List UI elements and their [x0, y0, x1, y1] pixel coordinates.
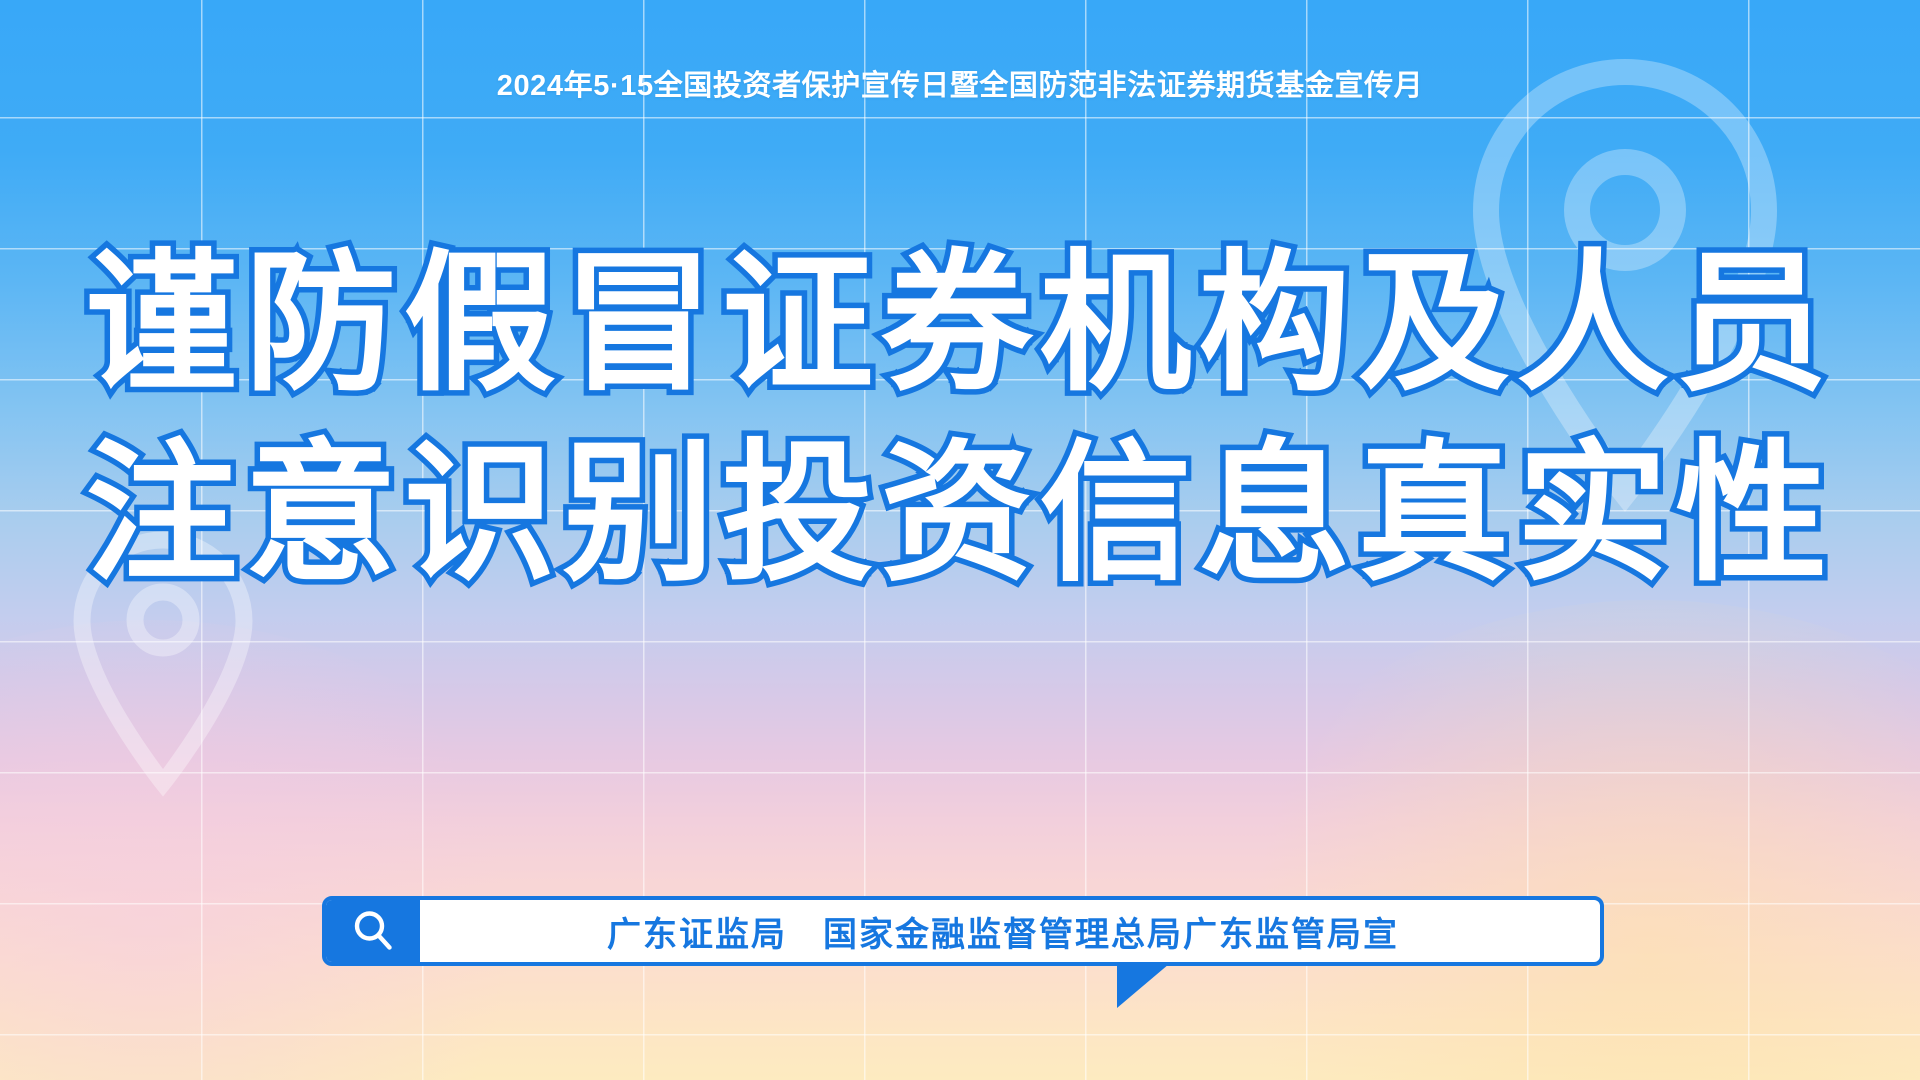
search-button[interactable] [326, 900, 420, 962]
headline-block: 谨防假冒证券机构及人员 注意识别投资信息真实性 [0, 248, 1920, 590]
poster-canvas: 2024年5·15全国投资者保护宣传日暨全国防范非法证券期货基金宣传月 谨防假冒… [0, 0, 1920, 1080]
background-wash-left [0, 620, 560, 1080]
headline-line-2: 注意识别投资信息真实性 [0, 438, 1920, 590]
attribution-search-bar[interactable]: 广东证监局 国家金融监督管理总局广东监管局宣 [322, 896, 1604, 966]
attribution-text: 广东证监局 国家金融监督管理总局广东监管局宣 [420, 900, 1600, 962]
search-icon [350, 908, 396, 954]
headline-line-1: 谨防假冒证券机构及人员 [0, 248, 1920, 400]
campaign-header-text: 2024年5·15全国投资者保护宣传日暨全国防范非法证券期货基金宣传月 [0, 62, 1920, 104]
footer-bar-wrapper: 广东证监局 国家金融监督管理总局广东监管局宣 [322, 896, 1604, 966]
footer-bar-tail [1117, 964, 1169, 1008]
background-wash-right [1200, 600, 1920, 1080]
